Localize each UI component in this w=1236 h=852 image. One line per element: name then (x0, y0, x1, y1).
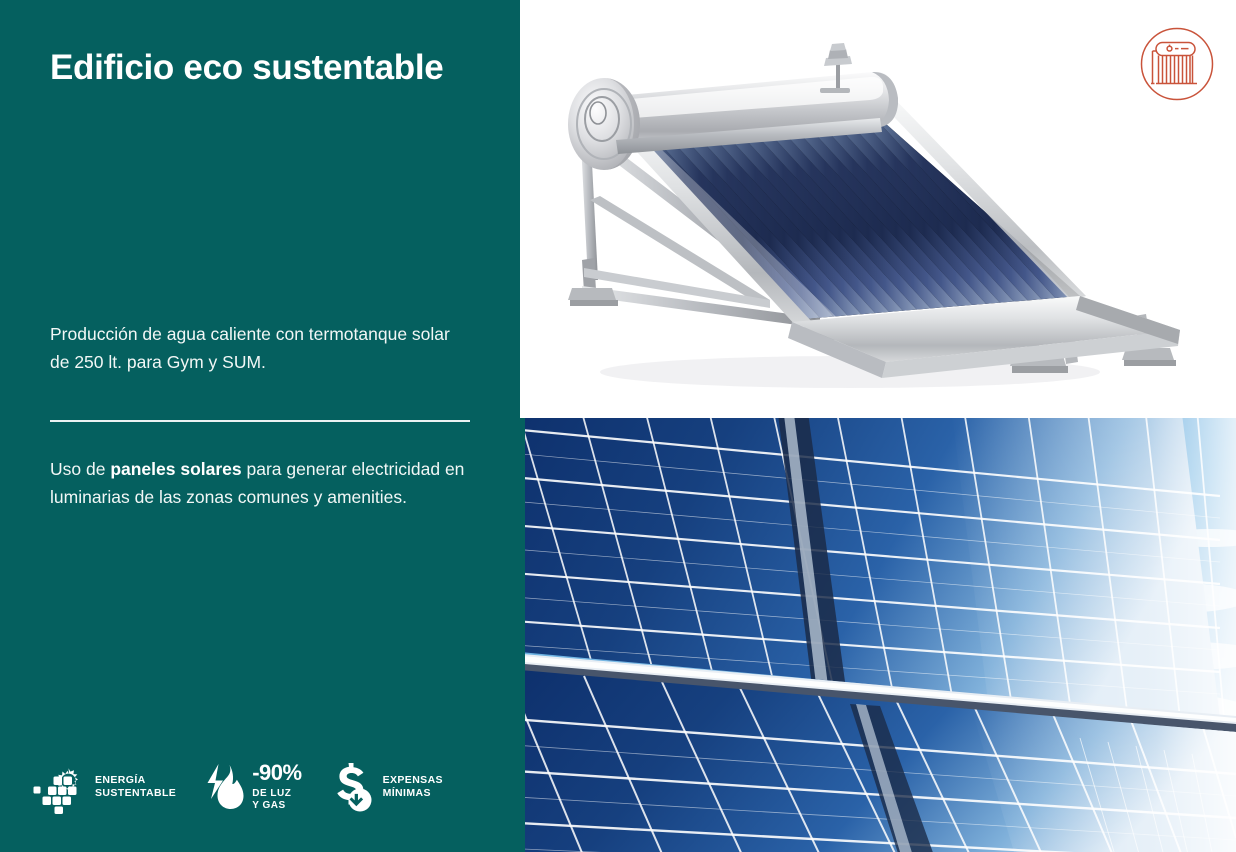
flame-bolt-icon (204, 761, 244, 813)
photo-left-edge-strip (520, 418, 525, 852)
paragraph-text-emphasis: paneles solares (110, 459, 241, 479)
badge-energia-label: ENERGÍA SUSTENTABLE (95, 774, 176, 800)
badge-expensas-minimas: EXPENSAS MÍNIMAS (328, 761, 443, 813)
solar-water-heater-circle-icon (1140, 27, 1214, 101)
badge-reduccion-line-2: Y GAS (252, 800, 285, 811)
badge-expensas-line-1: EXPENSAS (383, 774, 443, 786)
badge-energia-line-2: SUSTENTABLE (95, 787, 176, 799)
left-content-panel: Edificio eco sustentable Producción de a… (0, 0, 520, 852)
badge-expensas-label: EXPENSAS MÍNIMAS (383, 774, 443, 800)
badge-reduccion-sub: DE LUZ Y GAS (252, 788, 301, 813)
dollar-down-arrow-icon (328, 761, 374, 813)
eco-sustainable-slide: Edificio eco sustentable Producción de a… (0, 0, 1236, 852)
page-title: Edificio eco sustentable (50, 48, 490, 88)
badge-reduccion-line-1: DE LUZ (252, 788, 291, 799)
paragraph-text-lead: Uso de (50, 459, 110, 479)
pv-array-illustration (520, 418, 1236, 852)
solar-sun-grid-icon (30, 759, 86, 815)
solar-thermal-water-heater-image (520, 0, 1236, 418)
badge-reduccion-consumo: -90% DE LUZ Y GAS (204, 761, 301, 813)
section-divider (50, 420, 470, 422)
badge-reduccion-label: -90% DE LUZ Y GAS (252, 762, 301, 813)
feature-badge-row: ENERGÍA SUSTENTABLE (30, 752, 500, 822)
badge-reduccion-headline: -90% (252, 762, 301, 784)
badge-energia-line-1: ENERGÍA (95, 774, 146, 786)
description-paragraph-hot-water: Producción de agua caliente con termotan… (50, 320, 474, 377)
description-paragraph-solar-panels: Uso de paneles solares para generar elec… (50, 455, 474, 512)
badge-energia-sustentable: ENERGÍA SUSTENTABLE (30, 759, 176, 815)
badge-expensas-line-2: MÍNIMAS (383, 787, 431, 799)
photovoltaic-panel-photo (520, 418, 1236, 852)
water-heater-illustration (520, 0, 1236, 418)
